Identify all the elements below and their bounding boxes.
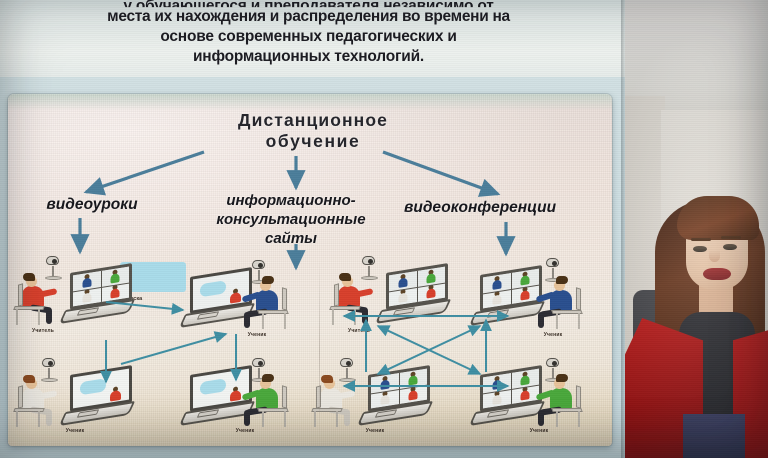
slide-text-line-2: места их нахождения и распределения во в…	[2, 7, 615, 28]
diagram-title-line-2: обучение	[198, 131, 428, 152]
video-call-screen: у обучающегося и преподавателя независим…	[0, 0, 768, 458]
branch-label-info-consult-sites: информационно- консультационные сайты	[186, 191, 396, 248]
diagram-image: Дистанционное обучение видеоуроки информ…	[8, 94, 612, 446]
participant-lips	[703, 268, 731, 280]
participant-eye-left	[693, 246, 707, 252]
participant-hair-front	[677, 196, 759, 240]
panel-divider	[319, 260, 320, 442]
slide-text-line-4: информационных технологий.	[2, 47, 615, 68]
branch-label-line-2: консультационные	[186, 210, 396, 229]
participant-brow-right	[721, 236, 741, 239]
slide-body-text: у обучающегося и преподавателя независим…	[0, 0, 625, 77]
participant-eye-right	[723, 244, 737, 250]
participant-brow-left	[691, 238, 711, 241]
branch-label-video-lessons: видеоуроки	[12, 195, 172, 214]
slide-text-line-3: основе современных педагогических и	[2, 27, 615, 48]
webcam-participant-tile[interactable]	[625, 0, 768, 458]
participant-nose	[709, 250, 720, 262]
diagram-title: Дистанционное обучение	[198, 110, 428, 152]
branch-label-videoconferences: видеоконференции	[404, 198, 612, 217]
participant-navy-panel	[683, 414, 745, 458]
diagram-title-line-1: Дистанционное	[198, 110, 428, 131]
branch-label-line-3: сайты	[186, 229, 396, 248]
branch-label-line-1: информационно-	[186, 191, 396, 210]
shared-presentation-region[interactable]: у обучающегося и преподавателя независим…	[0, 0, 625, 458]
